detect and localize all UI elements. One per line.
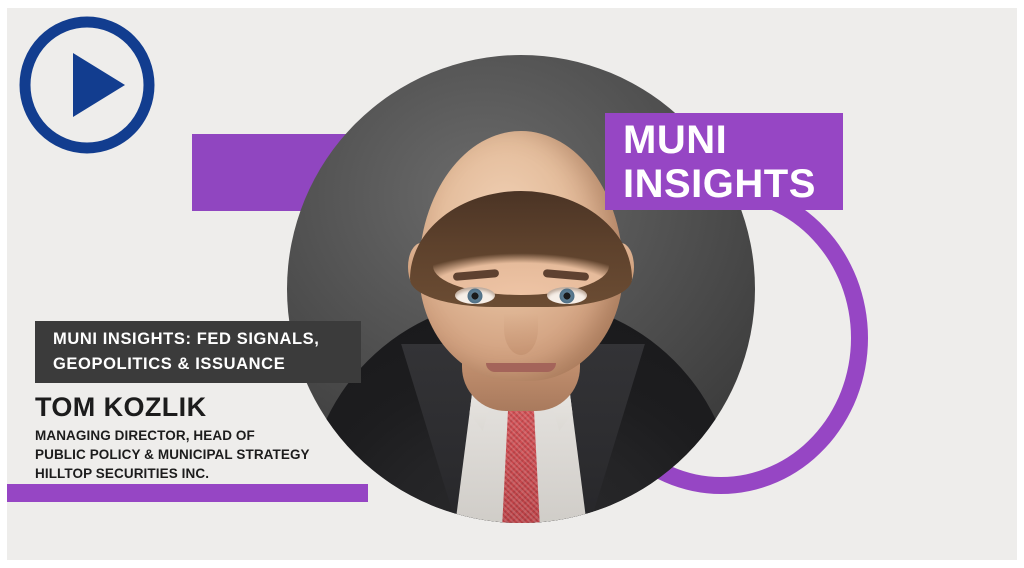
play-button[interactable] xyxy=(15,12,159,158)
frame-bottom xyxy=(0,560,1024,568)
program-banner-line-2: INSIGHTS xyxy=(623,162,843,206)
nose xyxy=(504,303,538,355)
speaker-info: TOM KOZLIK MANAGING DIRECTOR, HEAD OF PU… xyxy=(35,392,310,483)
mouth xyxy=(486,363,556,372)
episode-title-line-2: GEOPOLITICS & ISSUANCE xyxy=(53,352,361,377)
hair xyxy=(410,191,632,307)
iris-right xyxy=(560,288,575,303)
eye-left xyxy=(455,287,495,304)
video-thumbnail: MUNI INSIGHTS MUNI INSIGHTS: FED SIGNALS… xyxy=(0,0,1024,568)
speaker-credential-line-3: HILLTOP SECURITIES INC. xyxy=(35,464,310,483)
frame-top xyxy=(0,0,1024,8)
program-banner: MUNI INSIGHTS xyxy=(605,113,843,210)
iris-left xyxy=(468,288,483,303)
speaker-credentials: MANAGING DIRECTOR, HEAD OF PUBLIC POLICY… xyxy=(35,426,310,483)
play-circle-icon xyxy=(15,12,159,158)
speaker-name: TOM KOZLIK xyxy=(35,392,310,422)
program-banner-line-1: MUNI xyxy=(623,118,843,162)
head xyxy=(419,131,623,381)
frame-left xyxy=(0,0,7,568)
eye-right xyxy=(547,287,587,304)
speaker-credential-line-2: PUBLIC POLICY & MUNICIPAL STRATEGY xyxy=(35,445,310,464)
speaker-credential-line-1: MANAGING DIRECTOR, HEAD OF xyxy=(35,426,310,445)
purple-bottom-bar xyxy=(0,484,368,502)
frame-right xyxy=(1017,0,1024,568)
episode-title-line-1: MUNI INSIGHTS: FED SIGNALS, xyxy=(53,327,361,352)
episode-title-bar: MUNI INSIGHTS: FED SIGNALS, GEOPOLITICS … xyxy=(35,321,361,383)
